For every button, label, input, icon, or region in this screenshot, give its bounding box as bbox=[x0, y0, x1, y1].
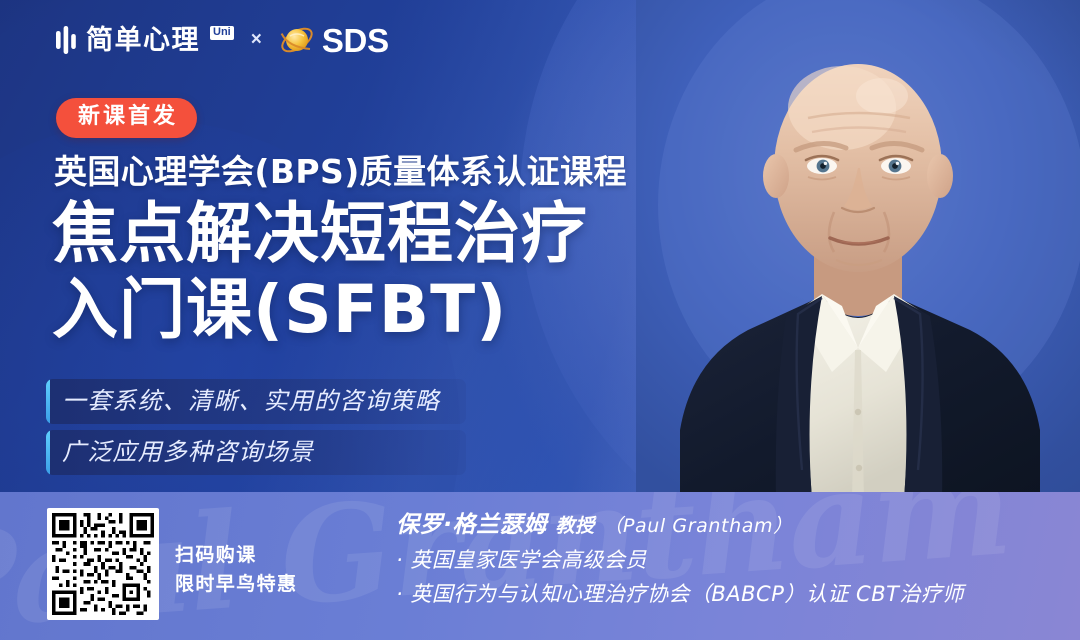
footer-band: Paul Grantham bbox=[0, 492, 1080, 640]
qr-caption: 扫码购课 限时早鸟特惠 bbox=[175, 541, 297, 599]
sun-orbit-icon bbox=[279, 22, 315, 58]
three-stroke-logo-icon bbox=[56, 25, 78, 55]
presenter-name-cn: 保罗·格兰瑟姆 bbox=[396, 512, 547, 538]
header-logo-row: 简单心理 Uni × SDS bbox=[56, 22, 389, 58]
feature-list: 一套系统、清晰、实用的咨询策略 广泛应用多种咨询场景 bbox=[46, 379, 466, 475]
course-title-line1: 焦点解决短程治疗 bbox=[52, 200, 588, 269]
presenter-credential: · 英国皇家医学会高级会员 bbox=[396, 543, 964, 577]
presenter-credential: · 英国行为与认知心理治疗协会（BABCP）认证 CBT治疗师 bbox=[396, 577, 964, 611]
new-course-badge: 新课首发 bbox=[56, 98, 197, 138]
logo-separator: × bbox=[251, 29, 262, 51]
brand-sub-badge: Uni bbox=[210, 26, 234, 40]
brand-name: 简单心理 bbox=[86, 27, 200, 54]
poster-root: 简单心理 Uni × SDS 新课首发 英国心理学 bbox=[0, 0, 1080, 640]
qr-code-icon[interactable] bbox=[47, 508, 159, 620]
brand-logo-jiandan[interactable]: 简单心理 Uni bbox=[56, 25, 234, 55]
presenter-name-row: 保罗·格兰瑟姆 教授 （Paul Grantham） bbox=[396, 508, 964, 543]
qr-caption-line2: 限时早鸟特惠 bbox=[175, 570, 297, 599]
course-title-line2: 入门课(SFBT) bbox=[52, 276, 507, 345]
presenter-info: 保罗·格兰瑟姆 教授 （Paul Grantham） · 英国皇家医学会高级会员… bbox=[396, 508, 964, 611]
partner-logo-sds[interactable]: SDS bbox=[279, 22, 389, 58]
presenter-name-en: （Paul Grantham） bbox=[603, 515, 792, 537]
feature-item: 一套系统、清晰、实用的咨询策略 bbox=[46, 379, 466, 424]
feature-item: 广泛应用多种咨询场景 bbox=[46, 430, 466, 475]
qr-caption-line1: 扫码购课 bbox=[175, 541, 297, 570]
presenter-role: 教授 bbox=[556, 515, 595, 537]
partner-name: SDS bbox=[322, 24, 389, 57]
course-subtitle: 英国心理学会(BPS)质量体系认证课程 bbox=[54, 152, 627, 192]
